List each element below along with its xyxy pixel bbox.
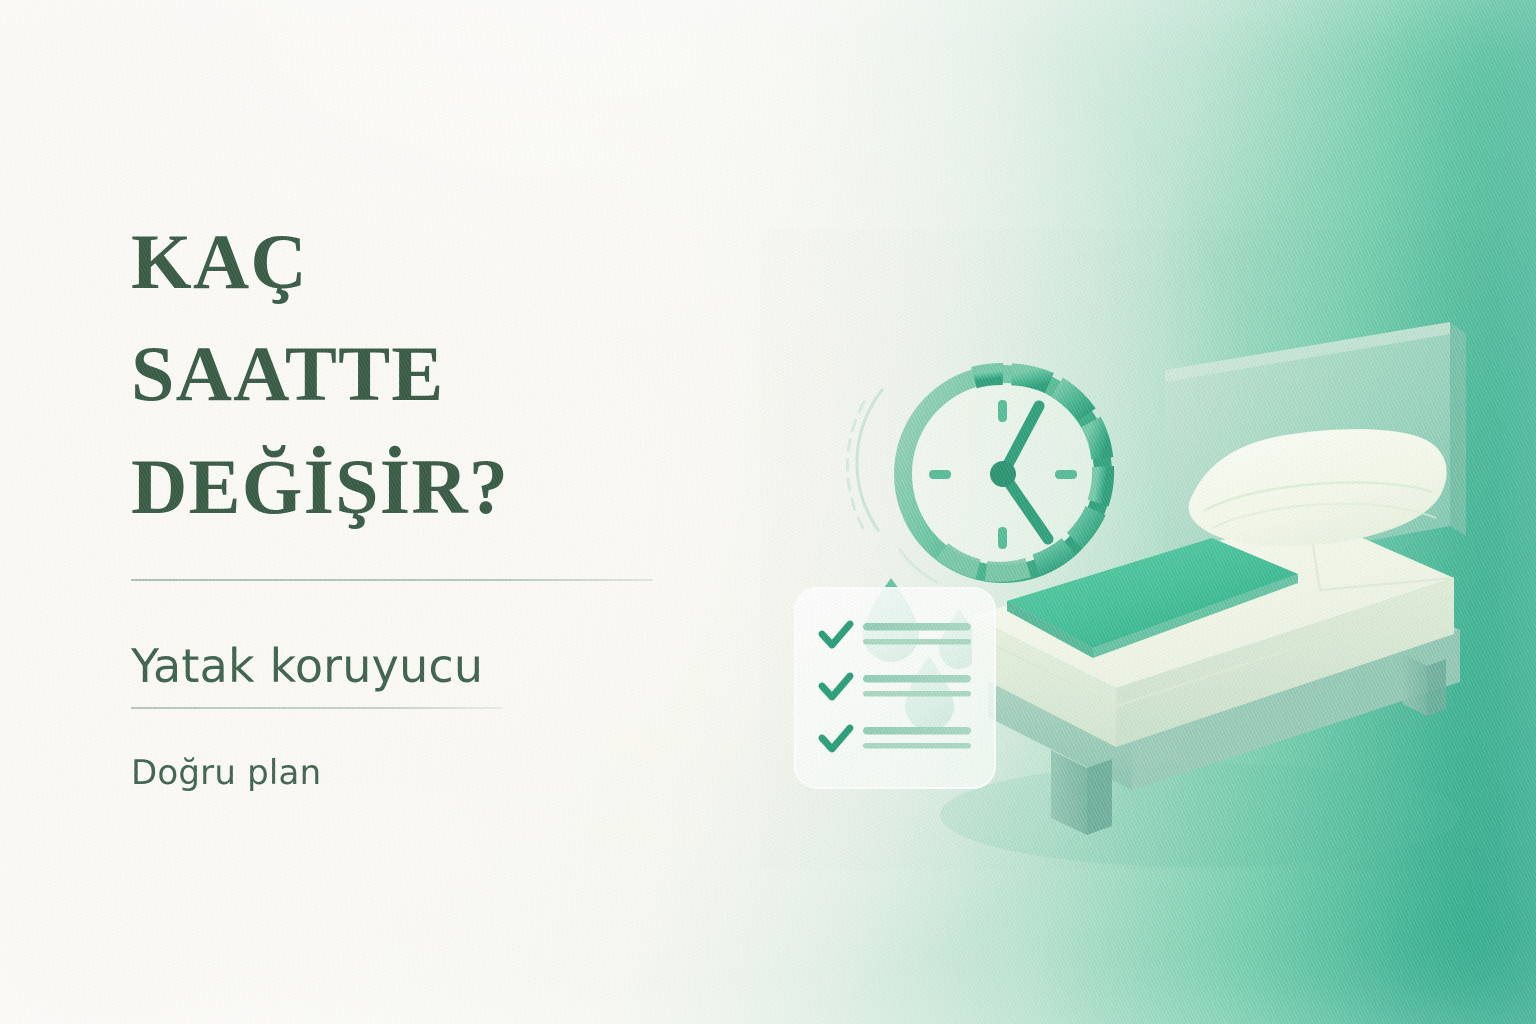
poster-canvas: KAÇ SAATTE DEĞİŞİR? Yatak koruyucu Doğru… bbox=[0, 0, 1536, 1024]
subtitle: Yatak koruyucu bbox=[131, 581, 771, 693]
headline-line-1: KAÇ bbox=[131, 206, 771, 318]
illustration-artwork bbox=[760, 230, 1500, 870]
headline-text-block: KAÇ SAATTE DEĞİŞİR? Yatak koruyucu Doğru… bbox=[131, 206, 771, 793]
headline-line-3: DEĞİŞİR? bbox=[131, 431, 771, 543]
headline-line-2: SAATTE bbox=[131, 318, 771, 430]
clock-icon bbox=[847, 374, 1103, 582]
page-title: KAÇ SAATTE DEĞİŞİR? bbox=[131, 206, 771, 543]
tagline: Doğru plan bbox=[131, 709, 771, 793]
checklist-card bbox=[795, 588, 995, 788]
